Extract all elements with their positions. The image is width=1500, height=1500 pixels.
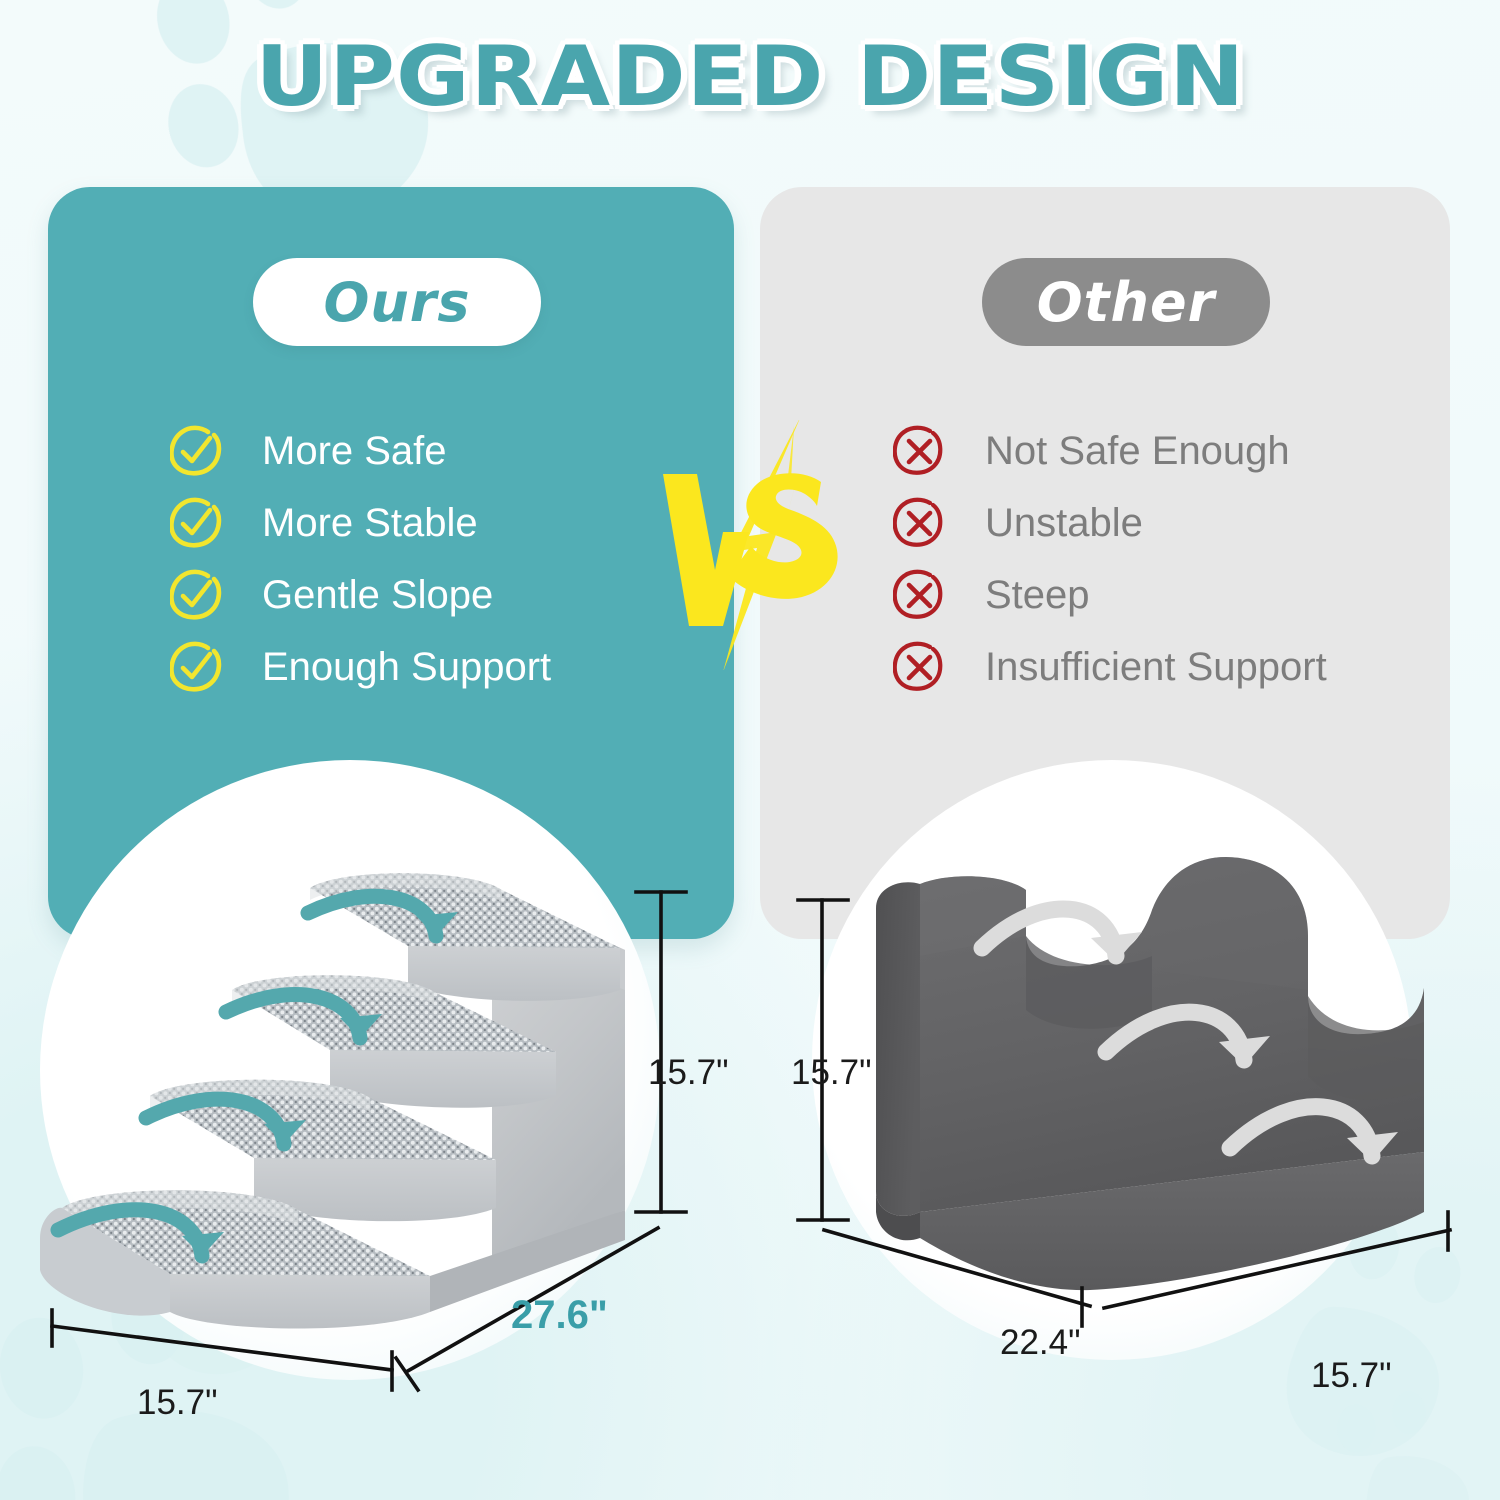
check-circle-icon xyxy=(170,497,222,549)
cross-circle-icon xyxy=(893,569,945,621)
cross-circle-icon xyxy=(893,641,945,693)
infographic-root: UPGRADED DESIGN Ours Other More Safe Mor… xyxy=(0,0,1500,1500)
page-title-text: UPGRADED DESIGN xyxy=(255,28,1245,125)
check-circle-icon xyxy=(170,641,222,693)
list-item: Gentle Slope xyxy=(170,568,551,621)
ours-product-image xyxy=(10,740,750,1480)
list-item: Steep xyxy=(893,568,1327,621)
other-width-label: 15.7" xyxy=(1311,1358,1392,1393)
list-item: Insufficient Support xyxy=(893,640,1327,693)
ours-badge-label: Ours xyxy=(323,271,470,334)
list-item-label: Unstable xyxy=(985,503,1143,543)
other-height-label: 15.7" xyxy=(791,1055,872,1090)
ours-width-label: 15.7" xyxy=(137,1385,218,1420)
other-depth-label: 22.4" xyxy=(1000,1325,1081,1360)
other-product-image xyxy=(760,760,1500,1460)
other-badge: Other xyxy=(982,258,1270,346)
check-circle-icon xyxy=(170,569,222,621)
ours-height-label: 15.7" xyxy=(648,1055,729,1090)
list-item-label: Enough Support xyxy=(262,647,551,687)
other-badge-label: Other xyxy=(1037,271,1215,334)
vs-badge xyxy=(645,420,875,670)
check-circle-icon xyxy=(170,425,222,477)
page-title: UPGRADED DESIGN xyxy=(0,28,1500,125)
list-item-label: Not Safe Enough xyxy=(985,431,1290,471)
list-item: More Stable xyxy=(170,496,551,549)
ours-badge: Ours xyxy=(253,258,541,346)
list-item-label: More Safe xyxy=(262,431,447,471)
cross-circle-icon xyxy=(893,425,945,477)
list-item-label: More Stable xyxy=(262,503,478,543)
list-item: Enough Support xyxy=(170,640,551,693)
ours-depth-label: 27.6" xyxy=(511,1295,608,1335)
list-item-label: Insufficient Support xyxy=(985,647,1327,687)
list-item-label: Gentle Slope xyxy=(262,575,493,615)
list-item: More Safe xyxy=(170,424,551,477)
cross-circle-icon xyxy=(893,497,945,549)
list-item: Not Safe Enough xyxy=(893,424,1327,477)
ours-feature-list: More Safe More Stable Gentle Slope Enoug… xyxy=(170,424,551,693)
list-item-label: Steep xyxy=(985,575,1090,615)
other-feature-list: Not Safe Enough Unstable Steep Insuffici… xyxy=(893,424,1327,693)
list-item: Unstable xyxy=(893,496,1327,549)
